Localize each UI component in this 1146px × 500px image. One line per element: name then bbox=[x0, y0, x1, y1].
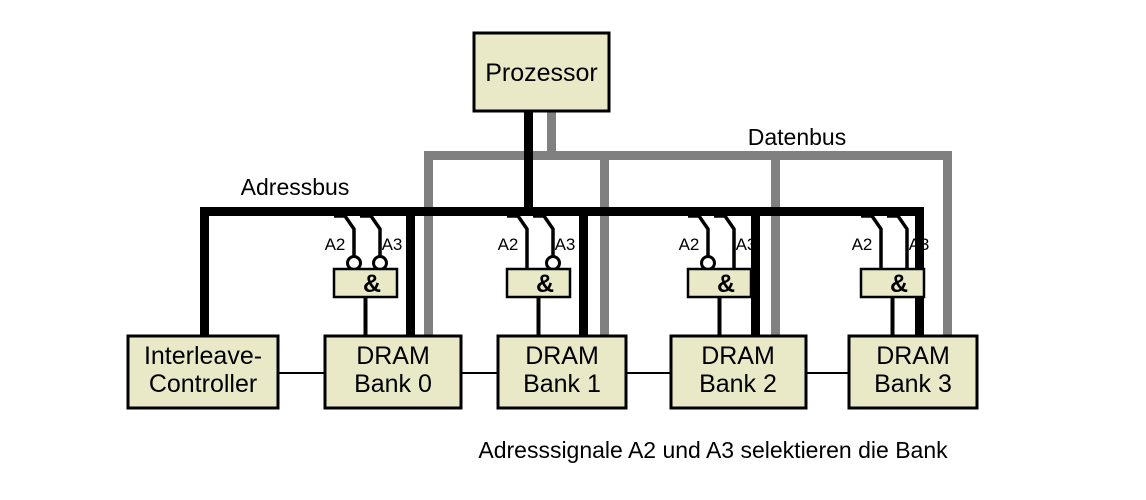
data-bus-label: Datenbus bbox=[748, 124, 846, 150]
interleaving-diagram: Prozessor Adressbus Datenbus A2 A3 & A2 … bbox=[0, 0, 1146, 500]
bank3-gate-symbol: & bbox=[890, 270, 908, 298]
processor-label: Prozessor bbox=[485, 59, 598, 87]
bank1-a3-label: A3 bbox=[555, 235, 576, 254]
dram-bank-0-box[interactable]: DRAM Bank 0 bbox=[325, 336, 461, 408]
interleave-controller-box[interactable]: Interleave- Controller bbox=[128, 336, 278, 408]
bank2-a2-invert-bubble bbox=[702, 257, 715, 270]
dram-bank-3-box[interactable]: DRAM Bank 3 bbox=[849, 336, 977, 408]
dram-bank-3-label-line2: Bank 3 bbox=[874, 370, 952, 398]
dram-bank-2-box[interactable]: DRAM Bank 2 bbox=[671, 336, 806, 408]
bank0-a2-invert-bubble bbox=[348, 257, 361, 270]
bank2-a2-label: A2 bbox=[679, 235, 700, 254]
bank2-a3-label: A3 bbox=[736, 235, 757, 254]
address-bus-label: Adressbus bbox=[241, 174, 350, 200]
bank2-and-gate[interactable]: & bbox=[688, 269, 751, 298]
dram-bank-2-label-line2: Bank 2 bbox=[699, 370, 777, 398]
bank3-and-gate[interactable]: & bbox=[861, 269, 924, 298]
dram-bank-1-box[interactable]: DRAM Bank 1 bbox=[498, 336, 626, 408]
dram-bank-1-label-line1: DRAM bbox=[525, 342, 599, 370]
bank0-gate-symbol: & bbox=[363, 270, 381, 298]
bank3-a2-label: A2 bbox=[852, 235, 873, 254]
bank1-a2-label: A2 bbox=[498, 235, 519, 254]
bank0-a3-invert-bubble bbox=[374, 257, 387, 270]
bank2-gate-symbol: & bbox=[717, 270, 735, 298]
bank1-and-gate[interactable]: & bbox=[507, 269, 570, 298]
dram-bank-2-label-line1: DRAM bbox=[701, 342, 775, 370]
dram-bank-3-label-line1: DRAM bbox=[876, 342, 950, 370]
interleave-controller-label-line1: Interleave- bbox=[144, 342, 262, 370]
bank1-gate-symbol: & bbox=[536, 270, 554, 298]
dram-bank-0-label-line1: DRAM bbox=[356, 342, 430, 370]
dram-bank-0-label-line2: Bank 0 bbox=[354, 370, 432, 398]
dram-bank-1-label-line2: Bank 1 bbox=[523, 370, 601, 398]
interleave-controller-label-line2: Controller bbox=[149, 370, 257, 398]
bank0-and-gate[interactable]: & bbox=[334, 269, 397, 298]
bank0-a2-label: A2 bbox=[325, 235, 346, 254]
bank0-a3-label: A3 bbox=[382, 235, 403, 254]
diagram-caption: Adresssignale A2 und A3 selektieren die … bbox=[478, 437, 948, 463]
bank3-a3-label: A3 bbox=[909, 235, 930, 254]
bank1-a3-invert-bubble bbox=[547, 257, 560, 270]
processor-box[interactable]: Prozessor bbox=[474, 33, 609, 111]
